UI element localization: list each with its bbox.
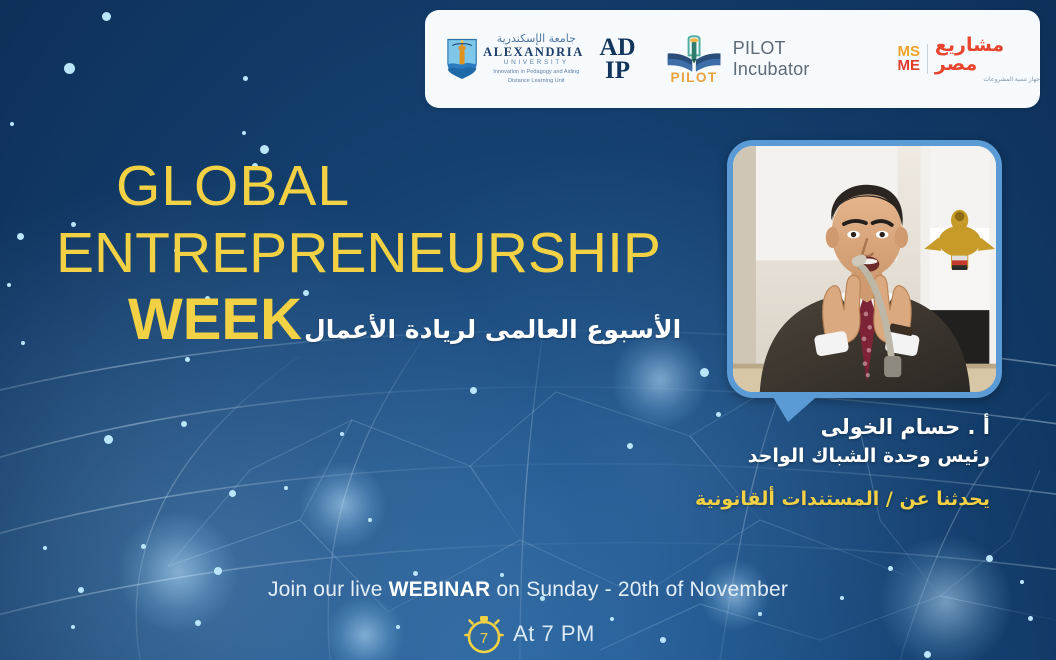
- event-poster: جامعة الإسكندرية ALEXANDRIA UNIVERSITY I…: [0, 0, 1056, 660]
- speaker-portrait-illustration: [733, 146, 996, 392]
- speaker-name: أ . حسام الخولى: [560, 412, 990, 442]
- webinar-invite-suffix: on Sunday - 20th of November: [490, 578, 788, 601]
- pilot-incubator-logo: PILOT PILOT Incubator: [664, 33, 856, 85]
- adip-logo: AD IP: [599, 36, 635, 82]
- msme-arabic-block: مشاريع مصر جهاز تنمية المشروعات: [935, 36, 1040, 83]
- title-line-global: GLOBAL: [56, 158, 756, 215]
- pilot-book-pen-icon: PILOT: [664, 33, 724, 85]
- adip-bottom-text: IP: [605, 59, 630, 82]
- adip-top-text: AD: [599, 36, 635, 59]
- title-arabic: الأسبوع العالمى لريادة الأعمال: [304, 315, 681, 349]
- title-line-entrepreneurship: ENTREPRENEURSHIP: [56, 221, 756, 287]
- speaker-topic: يحدثنا عن / المستندات ألقانونية: [560, 485, 990, 514]
- alexandria-name: ALEXANDRIA: [483, 46, 589, 59]
- msme-letters: MS ME: [898, 45, 921, 74]
- speaker-photo: [727, 140, 1002, 398]
- alexandria-university-word: UNIVERSITY: [483, 60, 589, 67]
- pilot-incubator-label: PILOT Incubator: [733, 38, 856, 80]
- msme-logo: MS ME مشاريع مصر جهاز تنمية المشروعات: [898, 36, 1040, 83]
- msme-arabic-subtitle: جهاز تنمية المشروعات: [983, 76, 1040, 83]
- msme-mark: MS ME مشاريع مصر جهاز تنمية المشروعات: [898, 36, 1040, 83]
- webinar-time: At 7 PM: [513, 621, 595, 647]
- msme-divider: [927, 44, 928, 74]
- webinar-footer: Join our live WEBINAR on Sunday - 20th o…: [0, 578, 1056, 657]
- webinar-emphasis: WEBINAR: [389, 578, 491, 601]
- svg-text:PILOT: PILOT: [670, 70, 717, 85]
- speaker-role: رئيس وحدة الشباك الواحد: [560, 442, 990, 471]
- alexandria-subtitle: Innovation in Pedagogy and Aiding Distan…: [483, 68, 589, 84]
- stopwatch-number: 7: [480, 630, 488, 647]
- partner-logo-bar: جامعة الإسكندرية ALEXANDRIA UNIVERSITY I…: [425, 10, 1040, 108]
- webinar-time-row: 7 At 7 PM: [0, 611, 1056, 657]
- title-line-week: WEEK: [56, 291, 302, 349]
- page-title: GLOBAL ENTREPRENEURSHIP WEEK الأسبوع الع…: [56, 158, 756, 349]
- alexandria-arabic-name: جامعة الإسكندرية: [483, 33, 589, 46]
- webinar-invite-line: Join our live WEBINAR on Sunday - 20th o…: [0, 578, 1056, 602]
- title-line-week-row: WEEK الأسبوع العالمى لريادة الأعمال: [56, 291, 756, 349]
- msme-me-text: ME: [898, 59, 921, 73]
- webinar-invite-prefix: Join our live: [268, 578, 389, 601]
- msme-arabic-name: مشاريع مصر: [935, 36, 1040, 74]
- alexandria-university-logo: جامعة الإسكندرية ALEXANDRIA UNIVERSITY I…: [447, 33, 636, 84]
- stopwatch-icon: 7: [461, 611, 507, 657]
- speaker-details: أ . حسام الخولى رئيس وحدة الشباك الواحد …: [560, 412, 990, 513]
- alexandria-crest-icon: [447, 36, 477, 82]
